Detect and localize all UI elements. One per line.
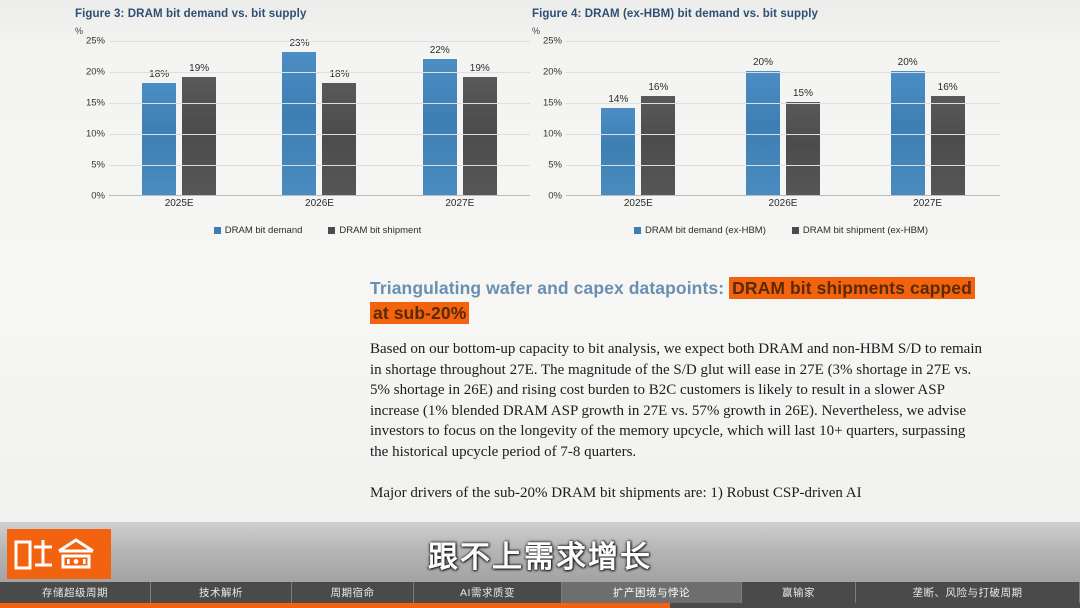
gridline	[566, 165, 1000, 166]
legend-swatch	[214, 227, 221, 234]
bar-2027E-shipment: 19%	[463, 77, 497, 195]
bar-2026E-shipment: 18%	[322, 83, 356, 195]
bar-wrapper: 23%	[282, 52, 316, 195]
bar-group: 22%19%	[401, 41, 519, 195]
bar-wrapper: 20%	[891, 71, 925, 195]
bar-group: 20%15%	[724, 41, 842, 195]
legend-swatch	[328, 227, 335, 234]
x-axis-tick: 2026E	[260, 198, 378, 218]
figure-4-x-axis: 2025E2026E2027E	[566, 198, 1000, 218]
article-paragraph-1: Based on our bottom-up capacity to bit a…	[370, 339, 982, 463]
bar-2025E-shipment: 16%	[641, 96, 675, 195]
progress-bar-fill	[0, 603, 670, 608]
gridline	[566, 134, 1000, 135]
figure-4-unit-label: %	[532, 26, 1000, 36]
bar-group: 18%19%	[120, 41, 238, 195]
chapter-tab-扩产困境与悖论[interactable]: 扩产困境与悖论	[562, 582, 742, 603]
y-axis-tick: 0%	[548, 191, 562, 202]
legend-item: DRAM bit demand	[214, 225, 303, 236]
y-axis-tick: 20%	[86, 67, 105, 78]
gridline	[109, 72, 530, 73]
y-axis-tick: 20%	[543, 67, 562, 78]
y-axis-tick: 15%	[543, 98, 562, 109]
y-axis-tick: 10%	[86, 129, 105, 140]
legend-swatch	[792, 227, 799, 234]
legend-label: DRAM bit shipment	[339, 225, 421, 236]
gridline	[109, 134, 530, 135]
bar-2026E-shipment: 15%	[786, 102, 820, 195]
progress-bar-track[interactable]	[0, 603, 1080, 608]
legend-item: DRAM bit shipment (ex-HBM)	[792, 225, 928, 236]
bar-group: 23%18%	[260, 41, 378, 195]
chapter-tab-周期宿命[interactable]: 周期宿命	[292, 582, 414, 603]
bar-wrapper: 22%	[423, 59, 457, 195]
bar-2025E-demand: 14%	[601, 108, 635, 195]
bar-2025E-shipment: 19%	[182, 77, 216, 195]
figure-4-title: Figure 4: DRAM (ex-HBM) bit demand vs. b…	[532, 8, 1000, 20]
figure-4-grid: 14%16%20%15%20%16%	[566, 41, 1000, 196]
bar-value-label: 16%	[938, 82, 958, 93]
x-axis-tick: 2025E	[579, 198, 697, 218]
bar-wrapper: 18%	[142, 83, 176, 195]
chapter-tab-垄断、风险与打破周期[interactable]: 垄断、风险与打破周期	[856, 582, 1080, 603]
slide-canvas: Figure 3: DRAM bit demand vs. bit supply…	[0, 0, 1080, 522]
figure-4-bar-groups: 14%16%20%15%20%16%	[566, 41, 1000, 195]
x-axis-tick: 2026E	[724, 198, 842, 218]
x-axis-tick: 2027E	[869, 198, 987, 218]
bar-wrapper: 16%	[641, 96, 675, 195]
figure-4-y-axis: 0%5%10%15%20%25%	[532, 41, 566, 196]
y-axis-tick: 25%	[86, 36, 105, 47]
article-paragraph-2: Major drivers of the sub-20% DRAM bit sh…	[370, 483, 982, 504]
y-axis-tick: 15%	[86, 98, 105, 109]
video-caption-subtitle: 跟不上需求增长	[0, 530, 1080, 578]
bar-wrapper: 18%	[322, 83, 356, 195]
bar-2026E-demand: 23%	[282, 52, 316, 195]
y-axis-tick: 5%	[548, 160, 562, 171]
gridline	[109, 41, 530, 42]
gridline	[566, 41, 1000, 42]
figure-4-legend: DRAM bit demand (ex-HBM)DRAM bit shipmen…	[532, 225, 1000, 236]
bar-group: 14%16%	[579, 41, 697, 195]
figure-3-plot: 0%5%10%15%20%25% 18%19%23%18%22%19% 2025…	[75, 41, 530, 219]
bar-wrapper: 16%	[931, 96, 965, 195]
figure-4-plot: 0%5%10%15%20%25% 14%16%20%15%20%16% 2025…	[532, 41, 1000, 219]
figure-3-y-axis: 0%5%10%15%20%25%	[75, 41, 109, 196]
gridline	[566, 72, 1000, 73]
chapter-tab-AI需求质变[interactable]: AI需求质变	[414, 582, 562, 603]
figure-3-grid: 18%19%23%18%22%19%	[109, 41, 530, 196]
y-axis-tick: 5%	[91, 160, 105, 171]
bar-value-label: 20%	[753, 57, 773, 68]
bar-wrapper: 19%	[182, 77, 216, 195]
bar-2027E-demand: 20%	[891, 71, 925, 195]
figure-3-panel: Figure 3: DRAM bit demand vs. bit supply…	[75, 8, 530, 270]
figure-3-title: Figure 3: DRAM bit demand vs. bit supply	[75, 8, 530, 20]
figure-3-unit-label: %	[75, 26, 530, 36]
gridline	[109, 165, 530, 166]
chapter-nav-bar[interactable]: 存储超级周期技术解析周期宿命AI需求质变扩产困境与悖论赢输家垄断、风险与打破周期	[0, 582, 1080, 603]
gridline	[566, 103, 1000, 104]
bar-value-label: 22%	[430, 45, 450, 56]
legend-swatch	[634, 227, 641, 234]
y-axis-tick: 25%	[543, 36, 562, 47]
bar-wrapper: 20%	[746, 71, 780, 195]
legend-label: DRAM bit demand	[225, 225, 303, 236]
bar-2027E-demand: 22%	[423, 59, 457, 195]
figure-3-x-axis: 2025E2026E2027E	[109, 198, 530, 218]
gridline	[109, 103, 530, 104]
bar-group: 20%16%	[869, 41, 987, 195]
legend-item: DRAM bit shipment	[328, 225, 421, 236]
x-axis-tick: 2027E	[401, 198, 519, 218]
legend-label: DRAM bit demand (ex-HBM)	[645, 225, 766, 236]
y-axis-tick: 0%	[91, 191, 105, 202]
chapter-tab-技术解析[interactable]: 技术解析	[151, 582, 292, 603]
figure-3-bar-groups: 18%19%23%18%22%19%	[109, 41, 530, 195]
figure-4-panel: Figure 4: DRAM (ex-HBM) bit demand vs. b…	[532, 8, 1000, 270]
legend-label: DRAM bit shipment (ex-HBM)	[803, 225, 928, 236]
legend-item: DRAM bit demand (ex-HBM)	[634, 225, 766, 236]
bar-wrapper: 15%	[786, 102, 820, 195]
headline-plain-part: Triangulating wafer and capex datapoints…	[370, 278, 729, 298]
bar-value-label: 15%	[793, 88, 813, 99]
bar-value-label: 20%	[898, 57, 918, 68]
bar-wrapper: 14%	[601, 108, 635, 195]
article-text-block: Triangulating wafer and capex datapoints…	[370, 276, 982, 503]
bar-wrapper: 19%	[463, 77, 497, 195]
bar-2026E-demand: 20%	[746, 71, 780, 195]
bar-value-label: 16%	[648, 82, 668, 93]
bar-2025E-demand: 18%	[142, 83, 176, 195]
bar-2027E-shipment: 16%	[931, 96, 965, 195]
chapter-tab-赢输家[interactable]: 赢输家	[742, 582, 856, 603]
video-player-chrome: 跟不上需求增长 存储超级周期技术解析周期宿命AI需求质变扩产困境与悖论赢输家垄断…	[0, 522, 1080, 608]
figure-3-legend: DRAM bit demandDRAM bit shipment	[75, 225, 530, 236]
x-axis-tick: 2025E	[120, 198, 238, 218]
chapter-tab-存储超级周期[interactable]: 存储超级周期	[0, 582, 151, 603]
y-axis-tick: 10%	[543, 129, 562, 140]
article-headline: Triangulating wafer and capex datapoints…	[370, 276, 982, 326]
